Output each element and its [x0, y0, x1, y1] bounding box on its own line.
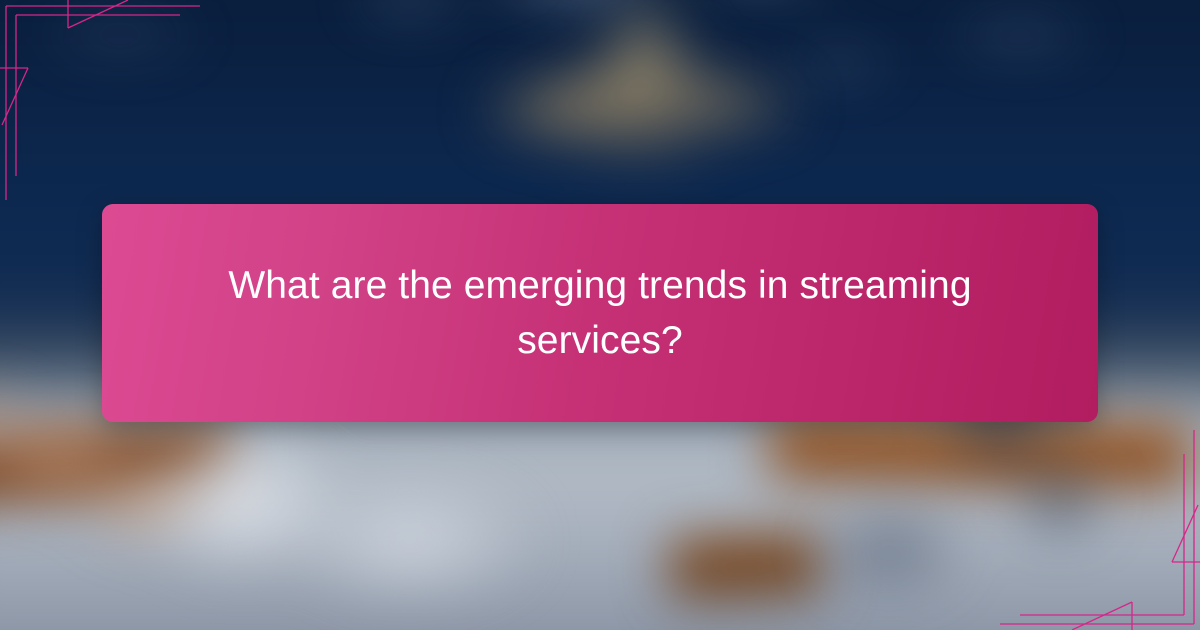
quote-card: What are the emerging trends in streamin…	[102, 204, 1098, 422]
social-quote-card-canvas: What are the emerging trends in streamin…	[0, 0, 1200, 630]
quote-question-text: What are the emerging trends in streamin…	[102, 258, 1098, 369]
